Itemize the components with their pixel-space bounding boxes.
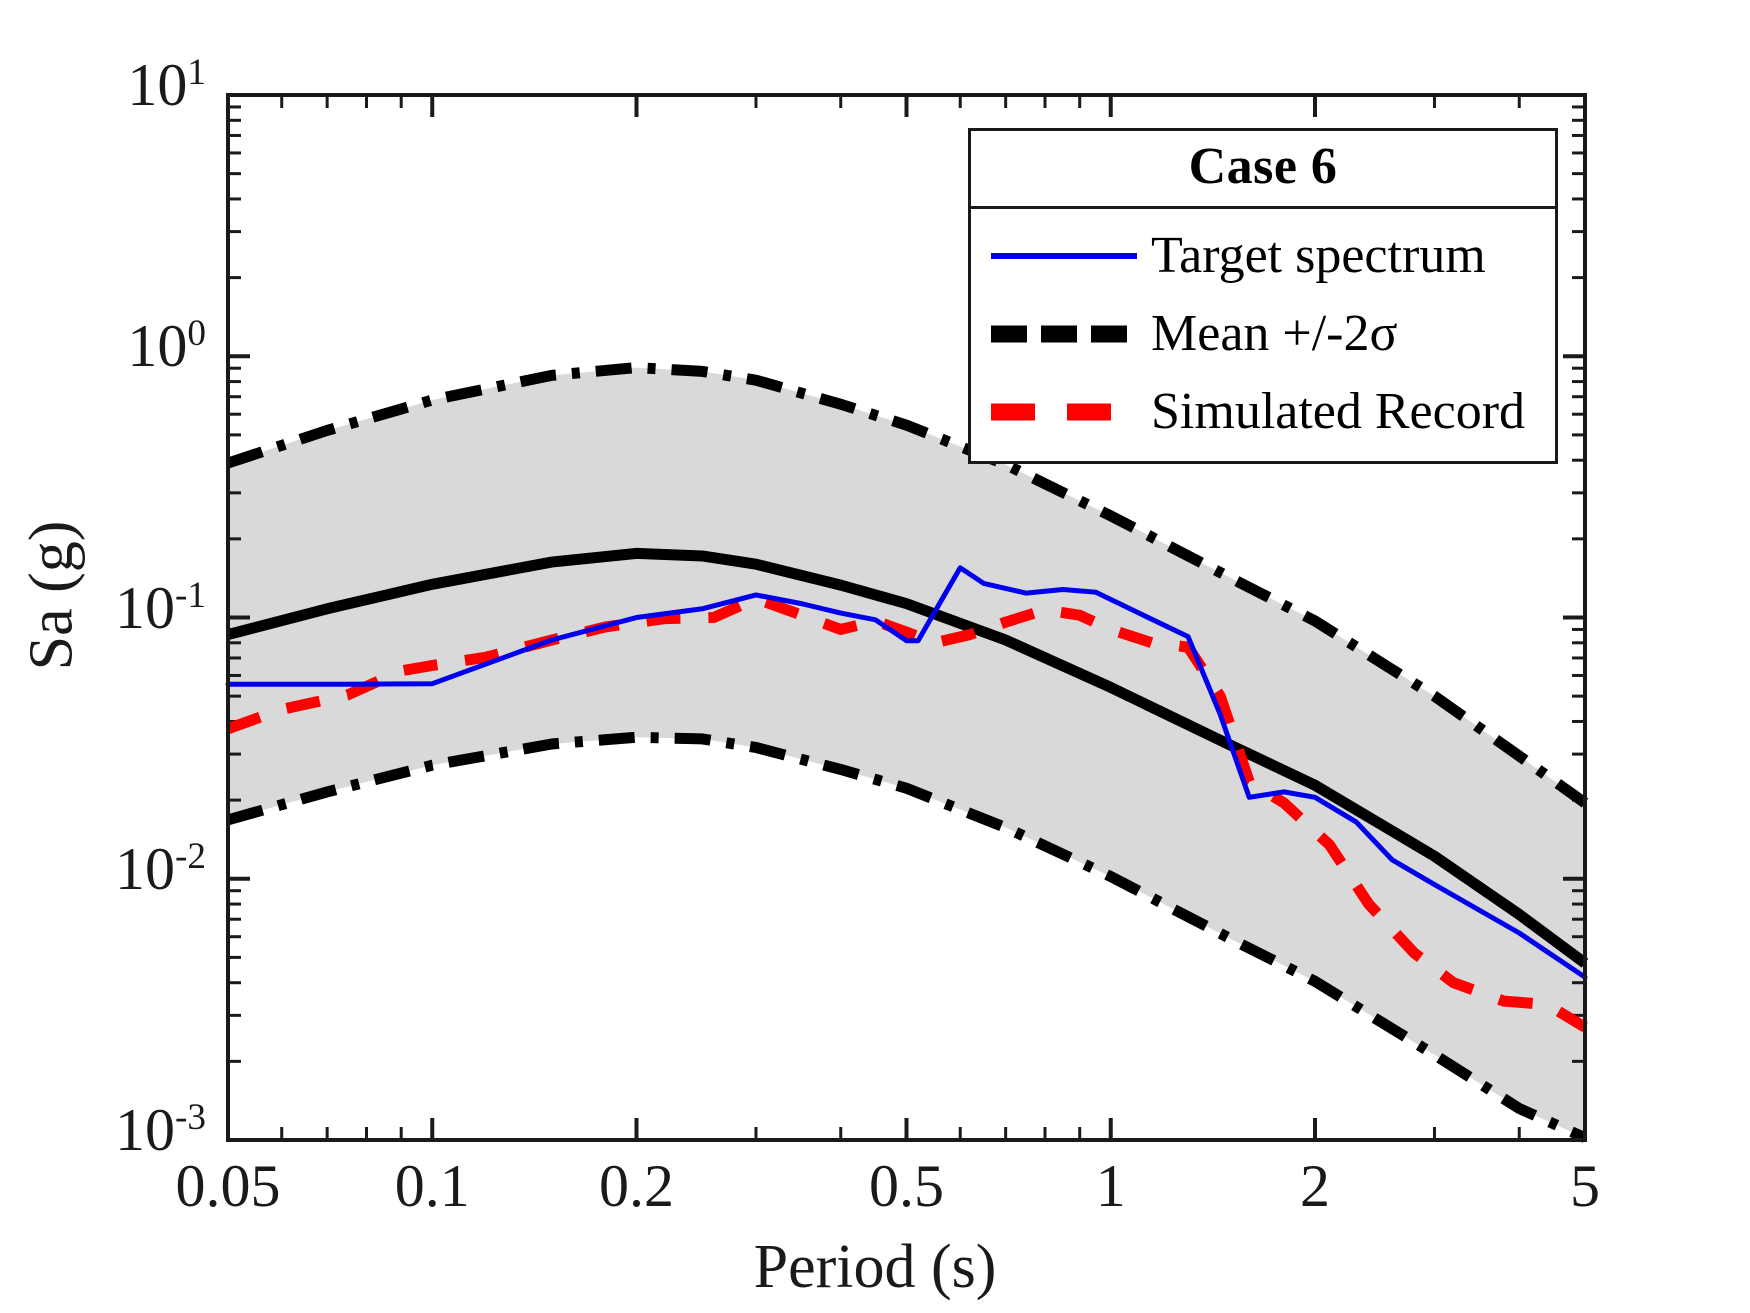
y-axis-label: Sa (g)	[17, 436, 88, 756]
legend-swatch-mean	[989, 314, 1139, 354]
legend-label-simulated: Simulated Record	[1151, 386, 1525, 438]
spectrum-figure: 101 100 10-1 10-2 10-3 0.050.10.20.5125 …	[0, 0, 1750, 1313]
legend-entries: Target spectrum Mean +/-2σ Simulated Rec…	[971, 209, 1555, 461]
x-tick-label-2: 2	[1205, 1152, 1425, 1221]
x-axis-label: Period (s)	[0, 1232, 1750, 1303]
legend-item-mean[interactable]: Mean +/-2σ	[971, 295, 1555, 373]
x-tick-label-5: 5	[1475, 1152, 1695, 1221]
x-tick-label-0.05: 0.05	[118, 1152, 338, 1221]
legend-title: Case 6	[971, 131, 1555, 209]
legend-item-target[interactable]: Target spectrum	[971, 217, 1555, 295]
x-tick-label-0.2: 0.2	[526, 1152, 746, 1221]
legend-label-mean: Mean +/-2σ	[1151, 308, 1398, 360]
x-tick-label-0.5: 0.5	[797, 1152, 1017, 1221]
y-tick-label-10e-2: 10-2	[0, 835, 206, 904]
legend-swatch-simulated	[989, 392, 1139, 432]
legend-swatch-target	[989, 236, 1139, 276]
y-tick-label-10e0: 100	[0, 312, 206, 381]
legend-label-target: Target spectrum	[1151, 230, 1486, 282]
x-tick-label-0.1: 0.1	[322, 1152, 542, 1221]
legend-item-simulated[interactable]: Simulated Record	[971, 373, 1555, 451]
y-tick-label-10e1: 101	[0, 51, 206, 120]
legend-box: Case 6 Target spectrum Mean +/-2σ Simula…	[968, 128, 1558, 464]
x-tick-label-1: 1	[1001, 1152, 1221, 1221]
